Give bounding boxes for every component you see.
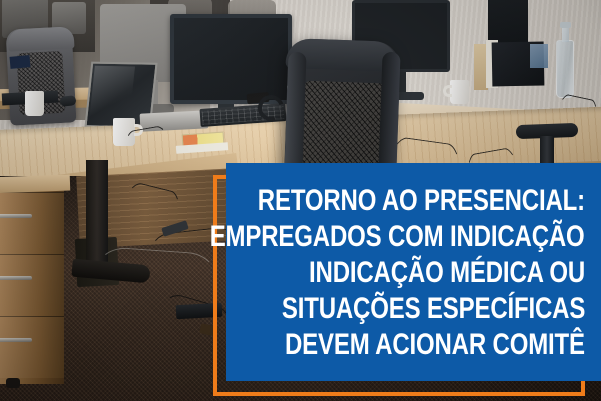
- drawer-cabinet-caster: [6, 378, 20, 388]
- headline-line-3: INDICAÇÃO MÉDICA OU: [309, 255, 585, 291]
- coffee-mug-right: [450, 80, 469, 104]
- drawer-cabinet-top: [0, 175, 70, 194]
- monitor-center-black: [170, 14, 292, 104]
- water-bottle-neck: [562, 26, 569, 42]
- coffee-mug-rear-left: [25, 91, 44, 116]
- water-bottle: [556, 40, 574, 98]
- headline-line-2: EMPREGADOS COM INDICAÇÃO: [210, 219, 585, 255]
- headline-line-1: RETORNO AO PRESENCIAL:: [258, 183, 585, 219]
- headline-text-block: RETORNO AO PRESENCIAL: EMPREGADOS COM IN…: [226, 163, 585, 381]
- stapler: [10, 55, 31, 69]
- headline-panel: RETORNO AO PRESENCIAL: EMPREGADOS COM IN…: [226, 163, 601, 381]
- desk-blue-folder: [530, 44, 548, 68]
- orange-frame-left-edge: [213, 175, 217, 396]
- banner-image: RETORNO AO PRESENCIAL: EMPREGADOS COM IN…: [0, 0, 601, 401]
- monitor-center-screen: [174, 18, 288, 100]
- laptop-screen-reflection: [89, 66, 135, 122]
- headline-line-4: SITUAÇÕES ESPECÍFICAS: [282, 291, 585, 327]
- chair-left-headrest: [7, 26, 74, 51]
- headline-line-5: DEVEM ACIONAR COMITÊ: [285, 327, 585, 363]
- drawer-cabinet-shading: [0, 184, 64, 384]
- coffee-mug-right-handle: [443, 85, 452, 97]
- water-bottle-cap: [560, 22, 571, 28]
- orange-frame-bottom-edge: [213, 392, 585, 396]
